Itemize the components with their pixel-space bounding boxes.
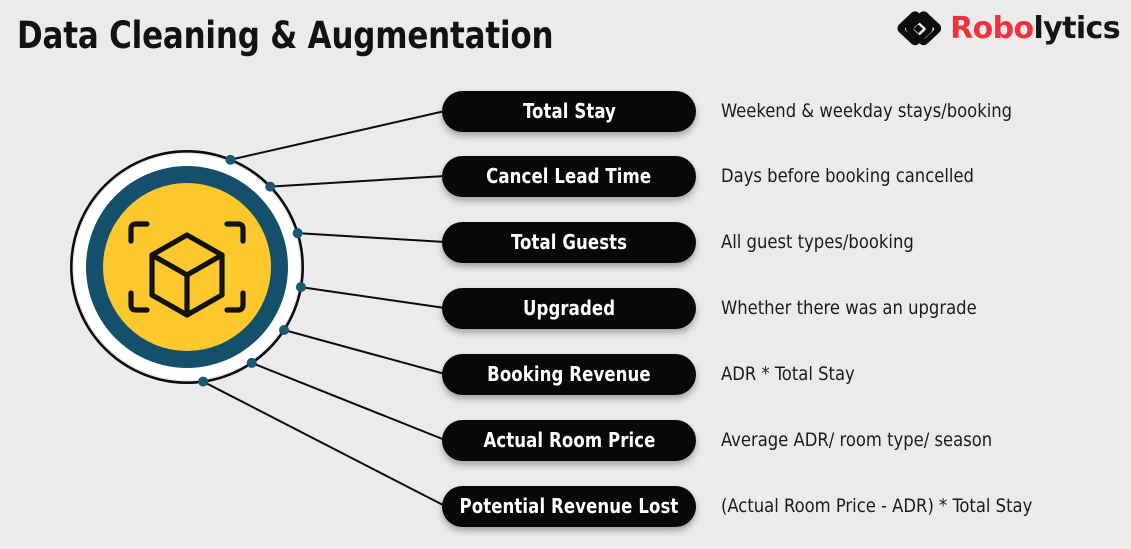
hub-white-gap bbox=[74, 154, 300, 380]
feature-pill[interactable]: Total Stay bbox=[442, 91, 696, 132]
feature-pill[interactable]: Actual Room Price bbox=[442, 420, 696, 461]
feature-pill[interactable]: Upgraded bbox=[442, 288, 696, 329]
connector-line bbox=[203, 382, 445, 506]
connector-line bbox=[230, 111, 445, 160]
feature-pill-label: Upgraded bbox=[523, 296, 615, 320]
hub-yellow-core bbox=[103, 183, 271, 351]
connector-dot bbox=[293, 228, 303, 238]
connector-diagram bbox=[0, 0, 1131, 549]
feature-description: Average ADR/ room type/ season bbox=[721, 420, 992, 461]
feature-pill-label: Actual Room Price bbox=[483, 428, 655, 452]
hub-circle-group bbox=[71, 151, 302, 382]
feature-description: ADR * Total Stay bbox=[721, 354, 855, 395]
feature-description: (Actual Room Price - ADR) * Total Stay bbox=[721, 486, 1032, 527]
page-title: Data Cleaning & Augmentation bbox=[17, 14, 553, 57]
feature-pill-label: Cancel Lead Time bbox=[486, 164, 651, 188]
connector-lines bbox=[203, 111, 445, 506]
brand-name-part2: lytics bbox=[1033, 11, 1120, 46]
feature-pill-label: Total Stay bbox=[523, 99, 616, 123]
connector-line bbox=[270, 176, 445, 187]
feature-description: All guest types/booking bbox=[721, 222, 914, 263]
robolytics-diamond-mark-icon bbox=[895, 10, 941, 48]
feature-description: Weekend & weekday stays/booking bbox=[721, 91, 1012, 132]
connector-line bbox=[284, 330, 445, 374]
feature-pill-label: Total Guests bbox=[511, 230, 627, 254]
connector-dot bbox=[296, 282, 306, 292]
brand-name-part1: Robo bbox=[950, 11, 1033, 46]
feature-pill[interactable]: Booking Revenue bbox=[442, 354, 696, 395]
hub-teal-ring bbox=[86, 166, 288, 368]
feature-description: Whether there was an upgrade bbox=[721, 288, 977, 329]
connector-dot bbox=[198, 377, 208, 387]
brand-wordmark: Robolytics bbox=[950, 14, 1120, 44]
feature-description: Days before booking cancelled bbox=[721, 156, 974, 197]
hub-outer-outline bbox=[71, 151, 302, 382]
feature-pill-label: Potential Revenue Lost bbox=[460, 494, 679, 518]
connector-dots bbox=[198, 155, 306, 387]
connector-line bbox=[298, 233, 445, 242]
slide-canvas: Data Cleaning & Augmentation Robolytics bbox=[0, 0, 1131, 549]
feature-pill[interactable]: Total Guests bbox=[442, 222, 696, 263]
feature-pill[interactable]: Cancel Lead Time bbox=[442, 156, 696, 197]
feature-pill-label: Booking Revenue bbox=[487, 362, 651, 386]
connector-dot bbox=[279, 325, 289, 335]
connector-dot bbox=[225, 155, 235, 165]
brand-logo: Robolytics bbox=[895, 9, 1120, 49]
cube-scan-icon bbox=[131, 224, 243, 315]
connector-line bbox=[252, 363, 445, 440]
connector-dot bbox=[265, 182, 275, 192]
connector-dot bbox=[247, 358, 257, 368]
feature-pill[interactable]: Potential Revenue Lost bbox=[442, 486, 696, 527]
connector-line bbox=[301, 287, 445, 308]
